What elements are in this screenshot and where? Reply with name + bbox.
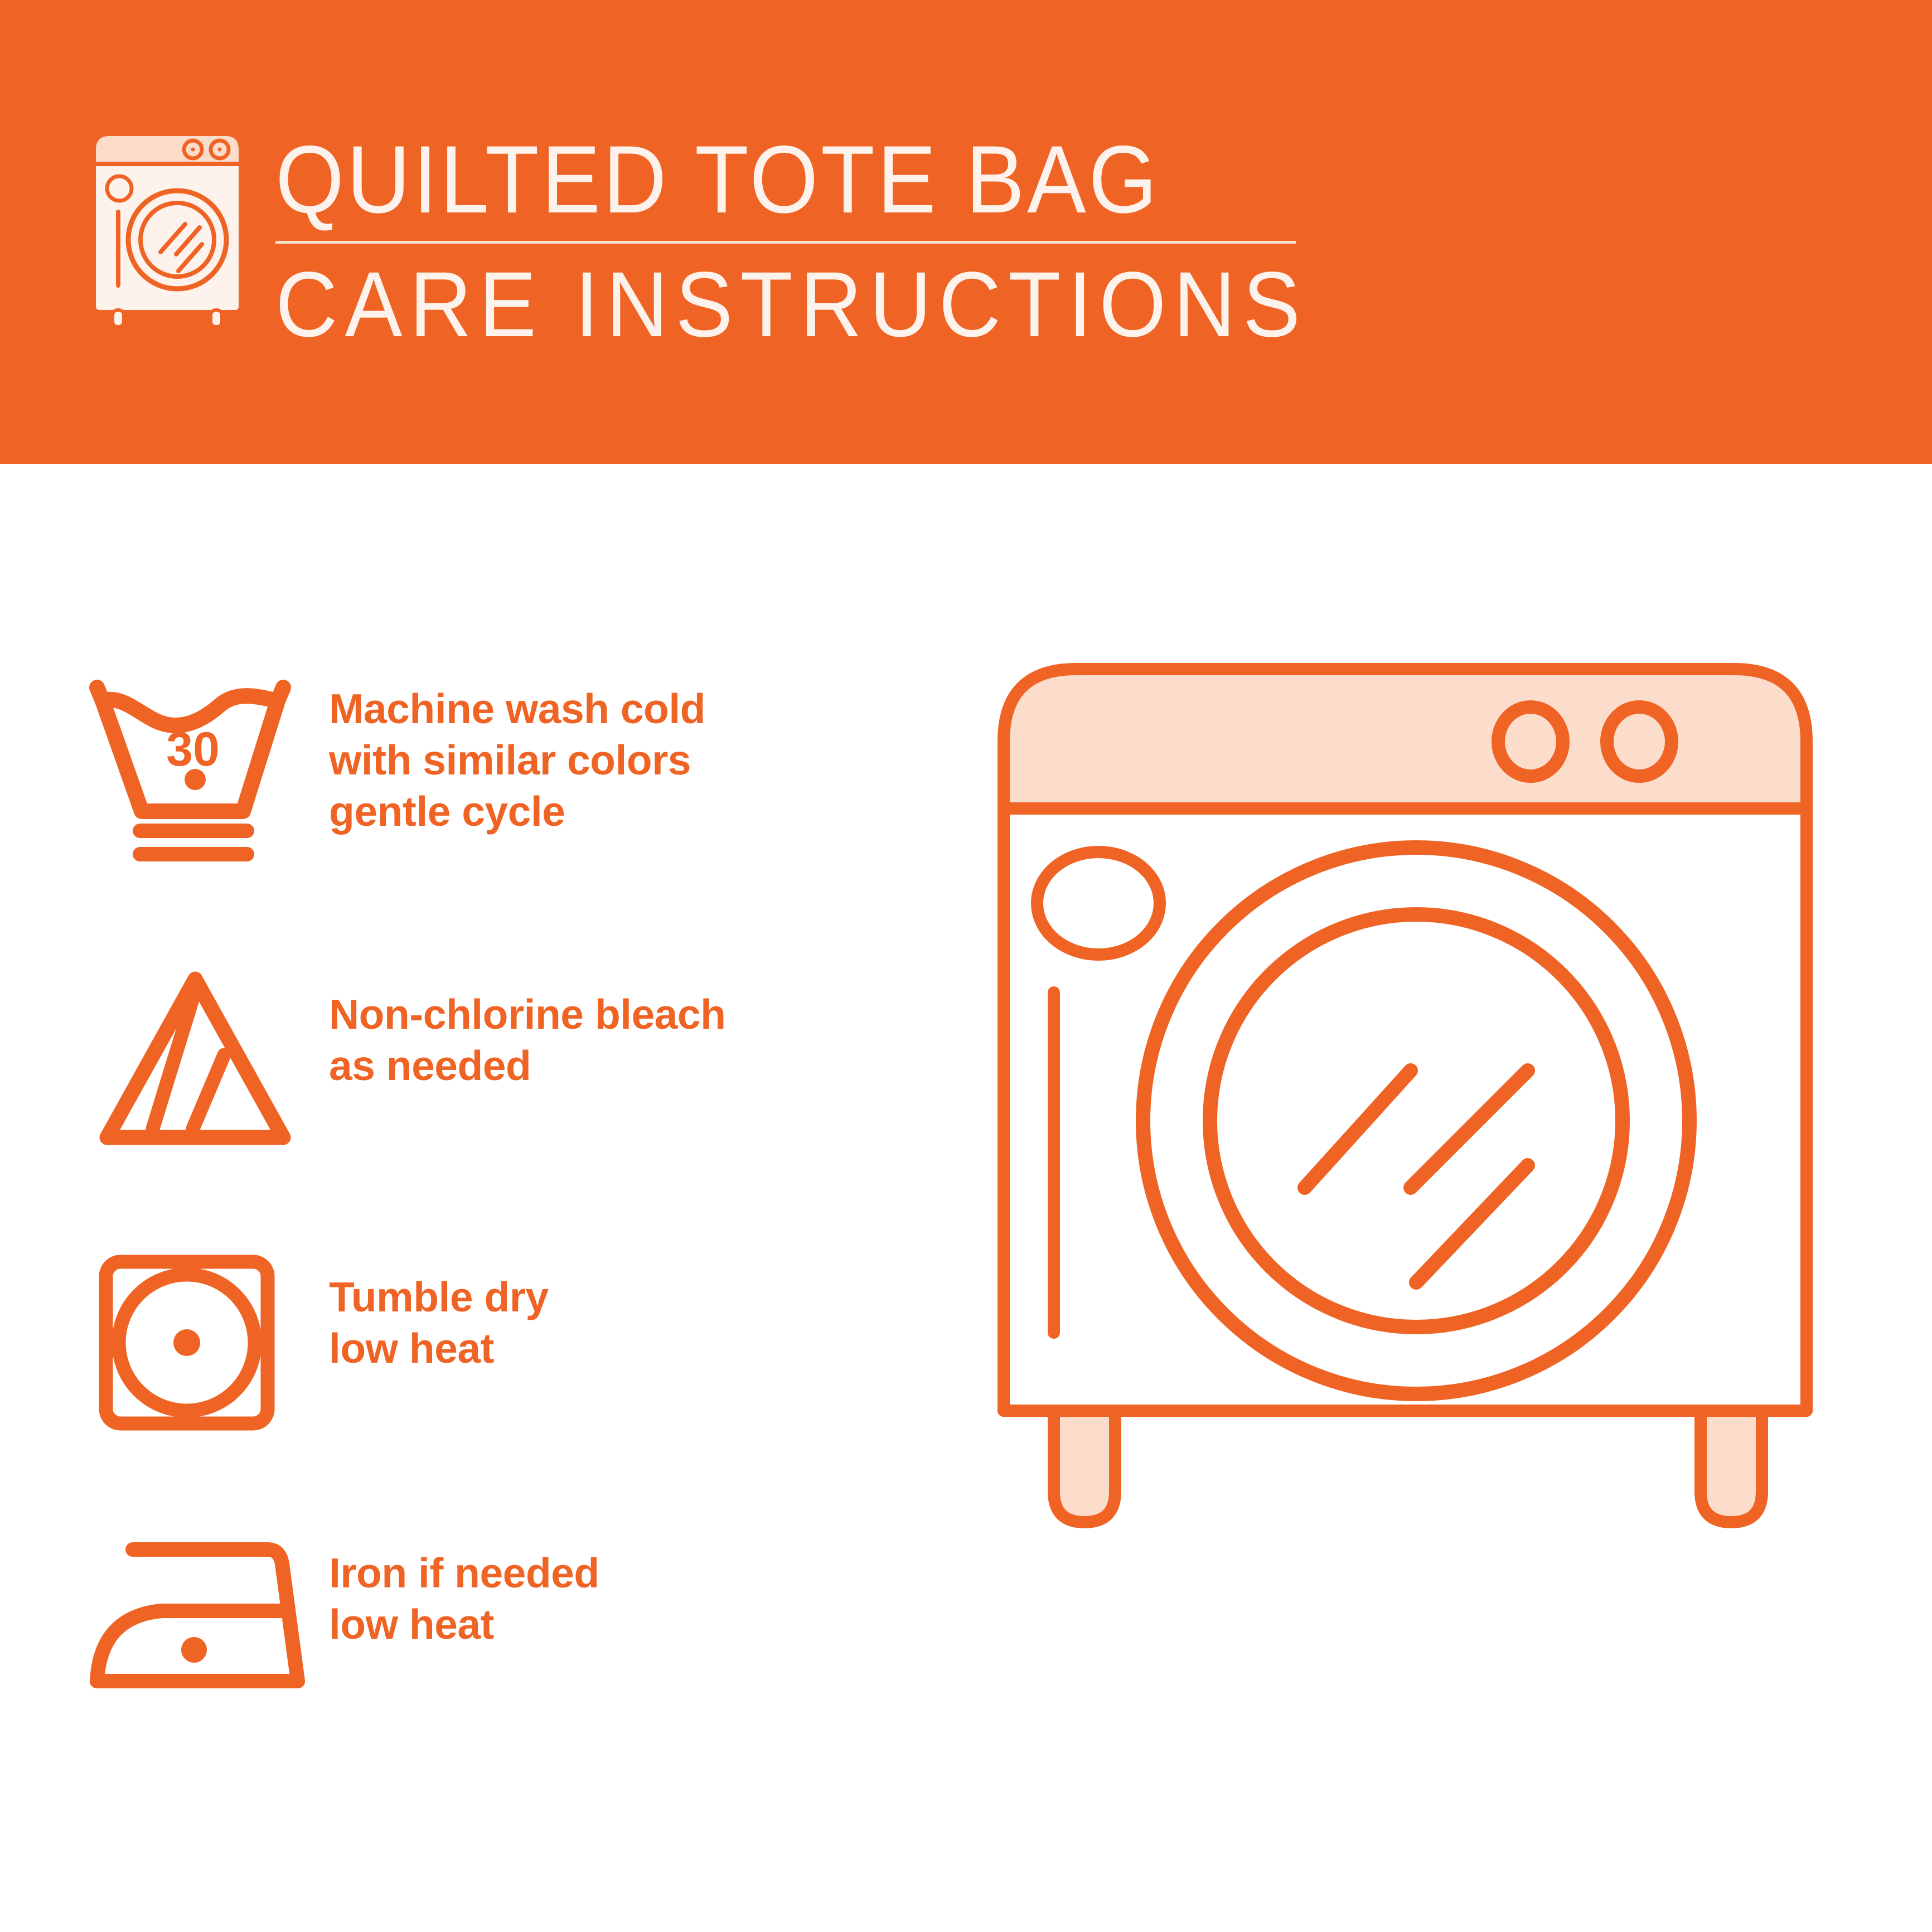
care-label-bleach: Non-chlorine bleach as needed [318, 934, 937, 1091]
care-instructions-list: 30 Machine wash cold with similar colors… [84, 655, 937, 1770]
page-subtitle: CARE INSTRUCTIONS [275, 258, 1308, 352]
large-washing-machine-illustration [970, 630, 1873, 1846]
tumble-dry-low-icon [84, 1213, 318, 1465]
header-content: QUILTED TOTE BAG CARE INSTRUCTIONS [84, 127, 1344, 350]
washing-machine-icon [84, 127, 251, 328]
care-row-tumble-dry: Tumble dry low heat [84, 1213, 937, 1492]
header-title-group: QUILTED TOTE BAG CARE INSTRUCTIONS [275, 127, 1385, 352]
care-label-tumble-dry: Tumble dry low heat [318, 1213, 937, 1374]
wash-tub-30-gentle-icon: 30 [84, 655, 318, 888]
triangle-non-chlorine-bleach-icon [84, 934, 318, 1182]
care-label-iron: Iron if needed low heat [318, 1492, 937, 1650]
title-divider [275, 241, 1296, 244]
care-row-iron: Iron if needed low heat [84, 1492, 937, 1770]
header-band: QUILTED TOTE BAG CARE INSTRUCTIONS [0, 0, 1932, 464]
machine-leg-right [1701, 1411, 1762, 1522]
machine-leg-left [1054, 1411, 1115, 1522]
care-row-bleach: Non-chlorine bleach as needed [84, 934, 937, 1213]
iron-low-heat-icon [84, 1492, 318, 1746]
care-label-machine-wash: Machine wash cold with similar colors ge… [318, 655, 937, 837]
wash-temperature-value: 30 [166, 723, 220, 776]
page-title: QUILTED TOTE BAG [275, 130, 1296, 229]
care-row-machine-wash: 30 Machine wash cold with similar colors… [84, 655, 937, 934]
